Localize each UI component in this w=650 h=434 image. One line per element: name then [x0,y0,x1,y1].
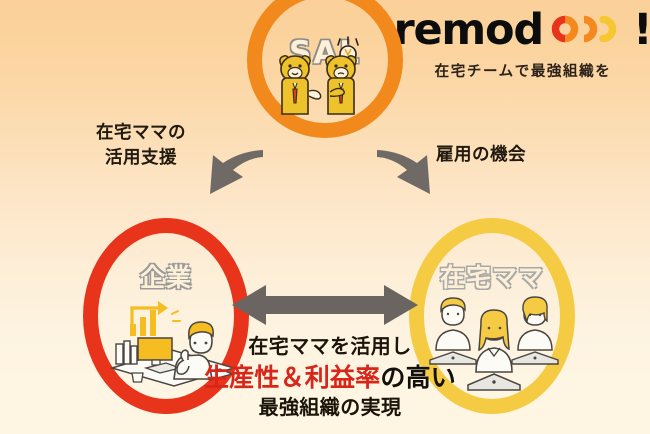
mascot-bears-icon [262,36,388,121]
edge-label-line-1: 在宅ママの [96,120,186,145]
logo-text: remod [393,9,543,52]
summary-caption: 在宅ママを活用し 生産性＆利益率の高い 最強組織の実現 [165,336,495,421]
arrow-company-mom-icon [232,281,418,329]
logo-swirl-icon [543,10,629,52]
logo-wordmark: remod ! [402,6,644,54]
logo-tagline: 在宅チームで最強組織を [402,60,644,81]
caption-highlight-suffix: の高い [380,364,456,392]
brand-logo: remod ! 在宅チームで最強組織を [402,6,644,81]
caption-line-1: 在宅ママを活用し [165,336,495,360]
logo-exclamation: ! [633,9,650,52]
caption-line-3: 最強組織の実現 [165,397,495,421]
caption-line-2: 生産性＆利益率の高い [165,364,495,394]
arrow-sal-to-company-icon [155,148,265,228]
infographic-canvas: remod ! 在宅チームで最強組織を SAL [0,0,650,434]
caption-highlight: 生産性＆利益率 [204,364,380,392]
arrow-sal-to-mom-icon [375,148,485,228]
node-sal: SAL [247,0,403,138]
